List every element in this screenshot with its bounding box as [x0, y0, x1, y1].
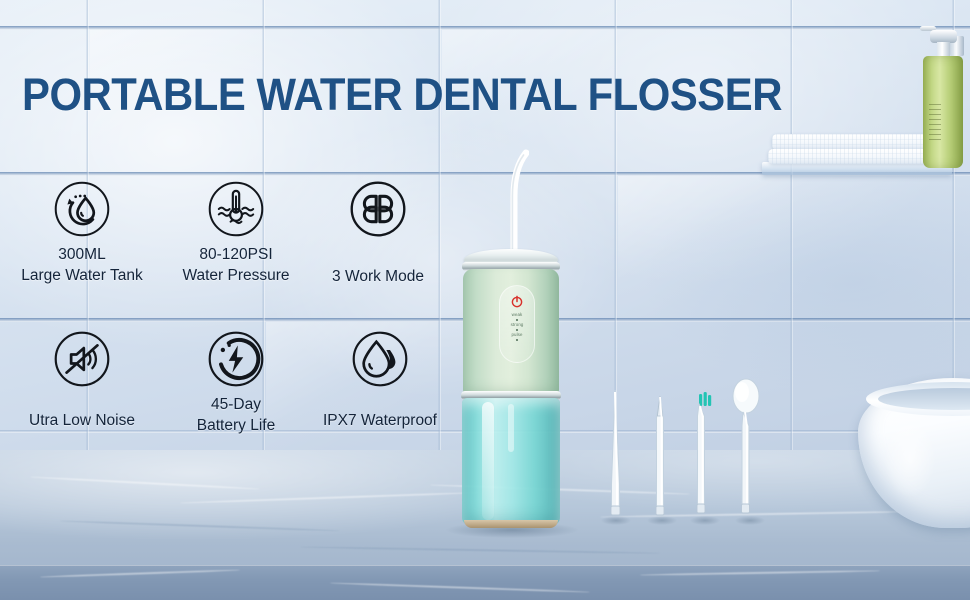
marble-vein — [40, 569, 240, 578]
mode-indicator-dot — [516, 339, 518, 341]
water-drop-icon — [351, 330, 409, 388]
battery-lightning-icon — [207, 330, 265, 388]
tank-highlight — [482, 402, 494, 520]
feature-label: IPX7 Waterproof — [292, 410, 468, 431]
mode-indicator-dot — [516, 329, 518, 331]
folded-towel — [772, 134, 940, 150]
device-body: weak strong pulse — [463, 269, 559, 395]
marble-vein — [640, 570, 880, 576]
flosser-nozzle — [503, 148, 529, 256]
four-petal-mode-icon — [349, 180, 407, 238]
pressure-gauge-icon — [207, 180, 265, 238]
nozzle-tip-periodontal[interactable] — [648, 394, 674, 525]
water-drop-refresh-icon — [53, 180, 111, 238]
bottle-label — [929, 100, 941, 140]
grout-line-h — [0, 26, 970, 30]
tongue-cleaner-tip-icon — [726, 376, 766, 520]
feature-work-mode: 3 Work Mode — [290, 180, 466, 287]
product-banner: PORTABLE WATER DENTAL FLOSSER 300ML Larg… — [0, 0, 970, 600]
feature-label: Utra Low Noise — [0, 410, 170, 431]
brush-tip-icon — [688, 390, 718, 520]
water-tank — [462, 398, 560, 526]
muted-speaker-icon — [53, 330, 111, 388]
towel-texture — [772, 134, 940, 150]
mode-label: weak — [500, 313, 534, 317]
grout-line-v — [790, 0, 793, 470]
folded-towel — [768, 149, 942, 164]
soap-dispenser-bottle — [923, 56, 963, 168]
feature-water-tank: 300ML Large Water Tank — [0, 180, 170, 287]
marble-vein — [330, 582, 590, 593]
tank-base — [464, 520, 558, 528]
feature-waterproof: IPX7 Waterproof — [292, 330, 468, 431]
feature-label: 300ML Large Water Tank — [0, 244, 170, 287]
periodontal-tip-icon — [648, 394, 674, 520]
power-button-icon[interactable] — [511, 295, 524, 308]
control-panel[interactable]: weak strong pulse — [499, 285, 535, 363]
nozzle-tip-tongue[interactable] — [726, 376, 766, 525]
tank-intake-tube — [508, 404, 514, 452]
feature-label: 3 Work Mode — [290, 266, 466, 287]
nozzle-tip-jet[interactable] — [602, 388, 630, 525]
countertop-edge — [0, 565, 970, 600]
mode-label: strong — [500, 323, 534, 327]
towel-texture — [768, 149, 942, 164]
portable-water-flosser[interactable]: weak strong pulse — [456, 148, 566, 528]
nozzle-tip-brush[interactable] — [688, 390, 718, 525]
mode-label: pulse — [500, 333, 534, 337]
jet-tip-icon — [602, 388, 630, 520]
mode-item-weak[interactable]: weak — [500, 313, 534, 321]
page-title: PORTABLE WATER DENTAL FLOSSER — [22, 72, 782, 117]
sink-highlight — [884, 418, 936, 498]
mode-item-pulse[interactable]: pulse — [500, 333, 534, 341]
feature-low-noise: Utra Low Noise — [0, 330, 170, 431]
mode-indicator-dot — [516, 319, 518, 321]
mode-item-strong[interactable]: strong — [500, 323, 534, 331]
mode-list: weak strong pulse — [500, 313, 534, 343]
